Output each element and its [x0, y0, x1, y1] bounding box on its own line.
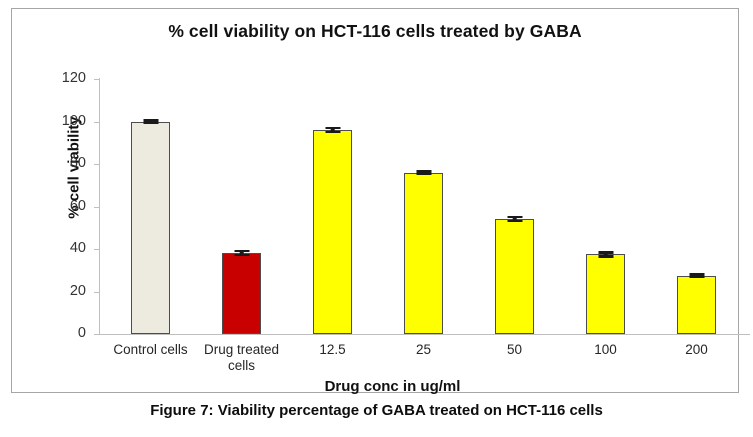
figure-caption: Figure 7: Viability percentage of GABA t…	[0, 402, 753, 419]
error-bar	[143, 119, 158, 123]
bar[interactable]	[495, 219, 534, 334]
error-bar	[325, 127, 340, 133]
error-bar	[598, 251, 613, 257]
error-bar-cap-bottom	[234, 254, 249, 256]
error-bar-cap-top	[325, 127, 340, 129]
error-bar-cap-bottom	[143, 121, 158, 123]
error-bar	[234, 250, 249, 256]
bar-group[interactable]	[586, 79, 625, 334]
y-axis-tick-label: 40	[26, 240, 86, 256]
bar-group[interactable]	[313, 79, 352, 334]
bar[interactable]	[404, 173, 443, 335]
x-axis-category-label: 12.5	[285, 342, 381, 358]
error-bar-cap-bottom	[598, 255, 613, 257]
bar-group[interactable]	[404, 79, 443, 334]
error-bar-cap-bottom	[507, 220, 522, 222]
x-axis-category-label: Control cells	[103, 342, 199, 358]
y-axis-tick-label: 100	[26, 113, 86, 129]
y-axis-tick-label: 0	[26, 325, 86, 341]
y-axis-tick-label: 20	[26, 283, 86, 299]
y-axis-tick-label: 60	[26, 198, 86, 214]
bar[interactable]	[131, 122, 170, 335]
y-axis-tick-label: 120	[26, 70, 86, 86]
error-bar-cap-top	[507, 216, 522, 218]
bar[interactable]	[222, 253, 261, 334]
error-bar-cap-bottom	[325, 131, 340, 133]
bar[interactable]	[586, 254, 625, 334]
error-bar-cap-top	[598, 251, 613, 253]
error-bar	[416, 170, 431, 174]
x-axis-category-label: 200	[649, 342, 745, 358]
chart-title: % cell viability on HCT-116 cells treate…	[12, 21, 738, 42]
error-bar-cap-top	[234, 250, 249, 252]
y-axis-tick	[94, 334, 100, 335]
error-bar-cap-bottom	[689, 275, 704, 277]
x-axis-title: Drug conc in ug/ml	[100, 378, 685, 395]
bar-group[interactable]	[222, 79, 261, 334]
bar[interactable]	[313, 130, 352, 334]
error-bar	[507, 216, 522, 222]
x-axis-category-label: 100	[558, 342, 654, 358]
x-axis-category-label: 50	[467, 342, 563, 358]
chart-frame: % cell viability on HCT-116 cells treate…	[11, 8, 739, 393]
bar-group[interactable]	[495, 79, 534, 334]
bar-group[interactable]	[131, 79, 170, 334]
plot-area	[100, 79, 748, 334]
bar[interactable]	[677, 276, 716, 334]
x-axis-category-label: 25	[376, 342, 472, 358]
error-bar	[689, 273, 704, 277]
y-axis-tick-label: 80	[26, 155, 86, 171]
figure-container: % cell viability on HCT-116 cells treate…	[0, 0, 753, 437]
x-axis-line	[100, 334, 750, 335]
x-axis-category-label: Drug treated cells	[194, 342, 290, 374]
error-bar-cap-bottom	[416, 172, 431, 174]
bar-group[interactable]	[677, 79, 716, 334]
